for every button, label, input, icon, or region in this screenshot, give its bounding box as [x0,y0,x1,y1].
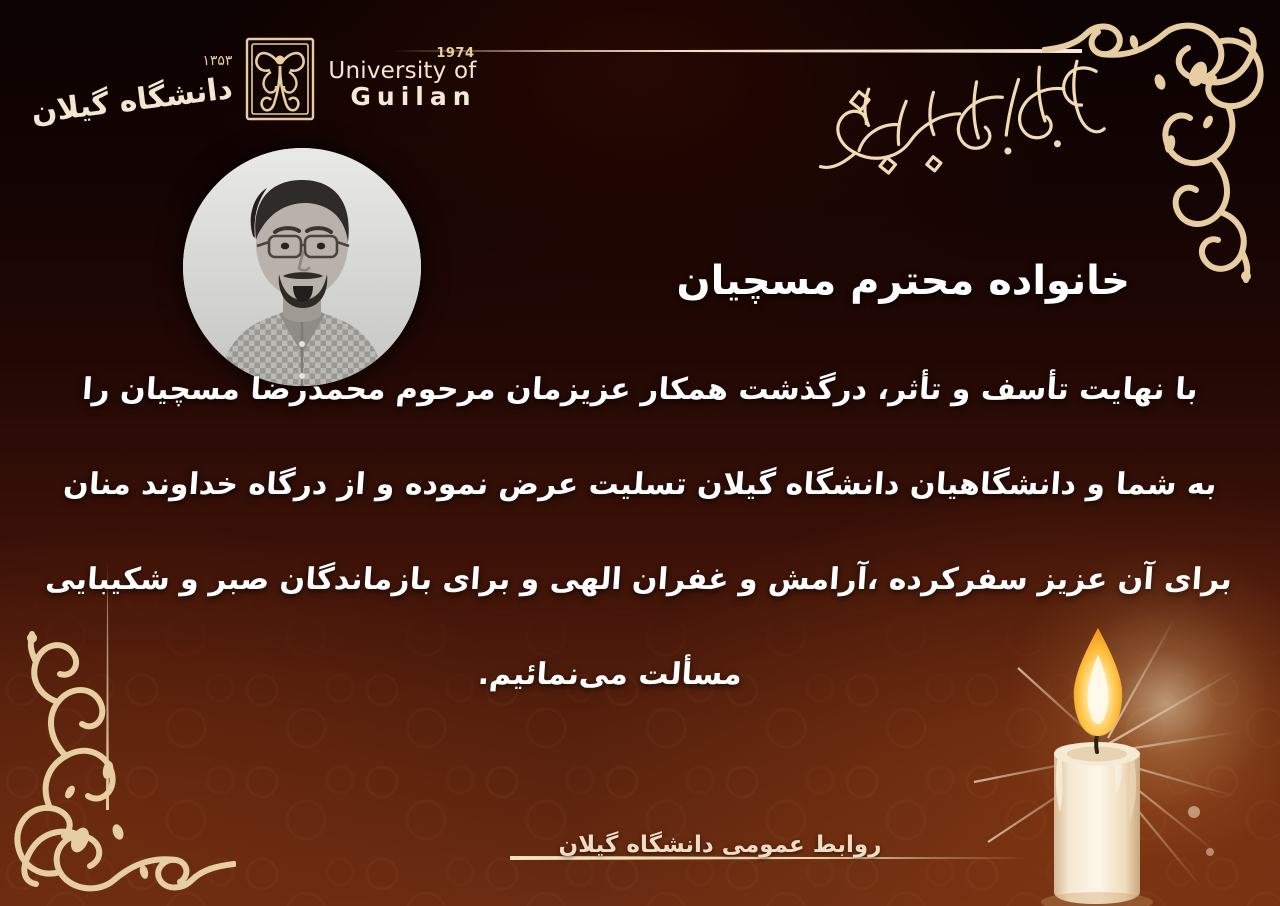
quranic-calligraphy-icon [803,41,1114,192]
gold-accent-line-top [392,49,1082,53]
deceased-portrait-photo [183,148,421,386]
logo-university-name-fa: دانشگاه گیلان [29,71,234,130]
page-title: خانواده محترم مسچیان [676,258,1130,304]
university-logo: 1974 University of Guilan ۱۳۵۳ دانشگاه گ… [30,36,477,122]
logo-university-label: University of [328,59,476,83]
lit-candle-icon [958,606,1238,906]
logo-persian-text: ۱۳۵۳ دانشگاه گیلان [30,53,232,106]
logo-year-hijri: ۱۳۵۳ [202,53,232,69]
message-line: به شما و دانشگاهیان دانشگاه گیلان تسلیت … [47,467,1233,502]
condolence-poster: 1974 University of Guilan ۱۳۵۳ دانشگاه گ… [0,0,1280,906]
logo-english-text: 1974 University of Guilan [328,46,476,112]
message-line: با نهایت تأسف و تأثر، درگذشت همکار عزیزم… [47,372,1233,407]
message-line: برای آن عزیز سفرکرده ،آرامش و غفران الهی… [47,562,1233,597]
guilan-university-emblem-icon [244,36,316,122]
logo-guilan-label: Guilan [350,83,476,112]
